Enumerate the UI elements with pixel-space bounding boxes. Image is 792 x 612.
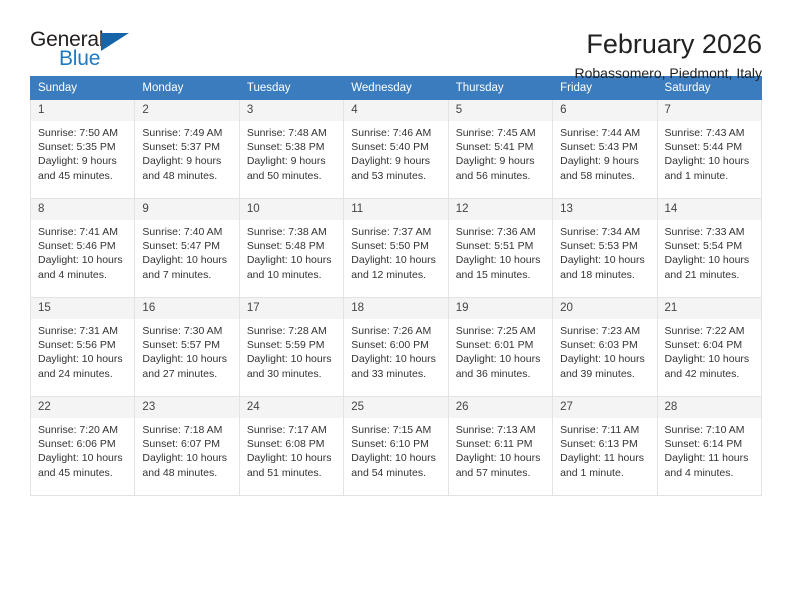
calendar-day-cell[interactable]: 11 Sunrise: 7:37 AM Sunset: 5:50 PM Dayl… [344, 199, 448, 298]
sunrise-text: Sunrise: 7:45 AM [456, 126, 546, 140]
day-number: 9 [135, 199, 238, 220]
day-details: Sunrise: 7:34 AM Sunset: 5:53 PM Dayligh… [553, 220, 656, 282]
daylight-text: Daylight: 9 hours and 58 minutes. [560, 154, 650, 182]
daylight-text: Daylight: 9 hours and 56 minutes. [456, 154, 546, 182]
day-details: Sunrise: 7:38 AM Sunset: 5:48 PM Dayligh… [240, 220, 343, 282]
sunrise-text: Sunrise: 7:31 AM [38, 324, 128, 338]
day-details: Sunrise: 7:10 AM Sunset: 6:14 PM Dayligh… [658, 418, 761, 480]
sunrise-text: Sunrise: 7:25 AM [456, 324, 546, 338]
sunrise-text: Sunrise: 7:44 AM [560, 126, 650, 140]
calendar-week-row: 22 Sunrise: 7:20 AM Sunset: 6:06 PM Dayl… [31, 397, 762, 496]
calendar-day-cell[interactable]: 21 Sunrise: 7:22 AM Sunset: 6:04 PM Dayl… [657, 298, 761, 397]
day-details: Sunrise: 7:15 AM Sunset: 6:10 PM Dayligh… [344, 418, 447, 480]
calendar-day-cell[interactable]: 9 Sunrise: 7:40 AM Sunset: 5:47 PM Dayli… [135, 199, 239, 298]
calendar-week-row: 1 Sunrise: 7:50 AM Sunset: 5:35 PM Dayli… [31, 100, 762, 199]
day-details: Sunrise: 7:45 AM Sunset: 5:41 PM Dayligh… [449, 121, 552, 183]
calendar-body: 1 Sunrise: 7:50 AM Sunset: 5:35 PM Dayli… [31, 100, 762, 496]
daylight-text: Daylight: 10 hours and 1 minute. [665, 154, 755, 182]
sunset-text: Sunset: 5:48 PM [247, 239, 337, 253]
day-number: 23 [135, 397, 238, 418]
day-details: Sunrise: 7:41 AM Sunset: 5:46 PM Dayligh… [31, 220, 134, 282]
daylight-text: Daylight: 10 hours and 27 minutes. [142, 352, 232, 380]
sunrise-text: Sunrise: 7:38 AM [247, 225, 337, 239]
title-block: February 2026 Robassomero, Piedmont, Ita… [574, 28, 762, 83]
day-number: 8 [31, 199, 134, 220]
sunrise-text: Sunrise: 7:46 AM [351, 126, 441, 140]
weekday-header-tuesday: Tuesday [239, 77, 343, 100]
sunset-text: Sunset: 6:06 PM [38, 437, 128, 451]
weekday-header-thursday: Thursday [448, 77, 552, 100]
calendar-day-cell[interactable]: 10 Sunrise: 7:38 AM Sunset: 5:48 PM Dayl… [239, 199, 343, 298]
sunrise-text: Sunrise: 7:48 AM [247, 126, 337, 140]
day-details: Sunrise: 7:37 AM Sunset: 5:50 PM Dayligh… [344, 220, 447, 282]
day-details: Sunrise: 7:13 AM Sunset: 6:11 PM Dayligh… [449, 418, 552, 480]
day-number: 20 [553, 298, 656, 319]
day-number: 22 [31, 397, 134, 418]
day-number: 2 [135, 100, 238, 121]
weekday-header-wednesday: Wednesday [344, 77, 448, 100]
calendar-day-cell[interactable]: 1 Sunrise: 7:50 AM Sunset: 5:35 PM Dayli… [31, 100, 135, 199]
general-blue-logo[interactable]: General Blue [30, 28, 150, 78]
daylight-text: Daylight: 10 hours and 30 minutes. [247, 352, 337, 380]
daylight-text: Daylight: 9 hours and 50 minutes. [247, 154, 337, 182]
sunrise-text: Sunrise: 7:49 AM [142, 126, 232, 140]
day-details: Sunrise: 7:31 AM Sunset: 5:56 PM Dayligh… [31, 319, 134, 381]
daylight-text: Daylight: 10 hours and 21 minutes. [665, 253, 755, 281]
day-number: 3 [240, 100, 343, 121]
daylight-text: Daylight: 10 hours and 10 minutes. [247, 253, 337, 281]
day-details: Sunrise: 7:44 AM Sunset: 5:43 PM Dayligh… [553, 121, 656, 183]
day-number: 28 [658, 397, 761, 418]
sunset-text: Sunset: 6:04 PM [665, 338, 755, 352]
calendar-page: General Blue February 2026 Robassomero, … [0, 0, 792, 612]
sunrise-text: Sunrise: 7:34 AM [560, 225, 650, 239]
day-number: 15 [31, 298, 134, 319]
sunrise-text: Sunrise: 7:11 AM [560, 423, 650, 437]
sunset-text: Sunset: 6:03 PM [560, 338, 650, 352]
calendar-day-cell[interactable]: 16 Sunrise: 7:30 AM Sunset: 5:57 PM Dayl… [135, 298, 239, 397]
sunset-text: Sunset: 5:51 PM [456, 239, 546, 253]
sunset-text: Sunset: 5:46 PM [38, 239, 128, 253]
calendar-day-cell[interactable]: 6 Sunrise: 7:44 AM Sunset: 5:43 PM Dayli… [553, 100, 657, 199]
day-details: Sunrise: 7:33 AM Sunset: 5:54 PM Dayligh… [658, 220, 761, 282]
sunset-text: Sunset: 5:50 PM [351, 239, 441, 253]
daylight-text: Daylight: 9 hours and 45 minutes. [38, 154, 128, 182]
calendar-day-cell[interactable]: 14 Sunrise: 7:33 AM Sunset: 5:54 PM Dayl… [657, 199, 761, 298]
calendar-day-cell[interactable]: 5 Sunrise: 7:45 AM Sunset: 5:41 PM Dayli… [448, 100, 552, 199]
day-number: 4 [344, 100, 447, 121]
daylight-text: Daylight: 10 hours and 36 minutes. [456, 352, 546, 380]
daylight-text: Daylight: 9 hours and 48 minutes. [142, 154, 232, 182]
weekday-header-monday: Monday [135, 77, 239, 100]
sunrise-text: Sunrise: 7:50 AM [38, 126, 128, 140]
calendar-day-cell[interactable]: 2 Sunrise: 7:49 AM Sunset: 5:37 PM Dayli… [135, 100, 239, 199]
sunrise-sunset-calendar: Sunday Monday Tuesday Wednesday Thursday… [30, 76, 762, 496]
logo-text-blue: Blue [59, 47, 100, 70]
daylight-text: Daylight: 11 hours and 4 minutes. [665, 451, 755, 479]
calendar-day-cell[interactable]: 25 Sunrise: 7:15 AM Sunset: 6:10 PM Dayl… [344, 397, 448, 496]
day-number: 14 [658, 199, 761, 220]
page-title: February 2026 [574, 28, 762, 60]
sunrise-text: Sunrise: 7:20 AM [38, 423, 128, 437]
day-details: Sunrise: 7:25 AM Sunset: 6:01 PM Dayligh… [449, 319, 552, 381]
calendar-day-cell[interactable]: 3 Sunrise: 7:48 AM Sunset: 5:38 PM Dayli… [239, 100, 343, 199]
day-details: Sunrise: 7:46 AM Sunset: 5:40 PM Dayligh… [344, 121, 447, 183]
sunset-text: Sunset: 5:38 PM [247, 140, 337, 154]
page-header: General Blue February 2026 Robassomero, … [30, 0, 762, 68]
calendar-day-cell[interactable]: 23 Sunrise: 7:18 AM Sunset: 6:07 PM Dayl… [135, 397, 239, 496]
calendar-day-cell[interactable]: 12 Sunrise: 7:36 AM Sunset: 5:51 PM Dayl… [448, 199, 552, 298]
day-details: Sunrise: 7:30 AM Sunset: 5:57 PM Dayligh… [135, 319, 238, 381]
sunset-text: Sunset: 5:54 PM [665, 239, 755, 253]
sunset-text: Sunset: 5:35 PM [38, 140, 128, 154]
daylight-text: Daylight: 10 hours and 54 minutes. [351, 451, 441, 479]
daylight-text: Daylight: 10 hours and 33 minutes. [351, 352, 441, 380]
calendar-day-cell[interactable]: 4 Sunrise: 7:46 AM Sunset: 5:40 PM Dayli… [344, 100, 448, 199]
sunset-text: Sunset: 5:43 PM [560, 140, 650, 154]
day-details: Sunrise: 7:50 AM Sunset: 5:35 PM Dayligh… [31, 121, 134, 183]
calendar-day-cell[interactable]: 17 Sunrise: 7:28 AM Sunset: 5:59 PM Dayl… [239, 298, 343, 397]
sunset-text: Sunset: 6:13 PM [560, 437, 650, 451]
calendar-day-cell[interactable]: 13 Sunrise: 7:34 AM Sunset: 5:53 PM Dayl… [553, 199, 657, 298]
daylight-text: Daylight: 10 hours and 42 minutes. [665, 352, 755, 380]
calendar-day-cell[interactable]: 15 Sunrise: 7:31 AM Sunset: 5:56 PM Dayl… [31, 298, 135, 397]
sunset-text: Sunset: 6:10 PM [351, 437, 441, 451]
sunset-text: Sunset: 5:53 PM [560, 239, 650, 253]
calendar-day-cell[interactable]: 8 Sunrise: 7:41 AM Sunset: 5:46 PM Dayli… [31, 199, 135, 298]
daylight-text: Daylight: 10 hours and 18 minutes. [560, 253, 650, 281]
sunset-text: Sunset: 6:08 PM [247, 437, 337, 451]
sunrise-text: Sunrise: 7:13 AM [456, 423, 546, 437]
day-details: Sunrise: 7:17 AM Sunset: 6:08 PM Dayligh… [240, 418, 343, 480]
day-details: Sunrise: 7:20 AM Sunset: 6:06 PM Dayligh… [31, 418, 134, 480]
day-details: Sunrise: 7:18 AM Sunset: 6:07 PM Dayligh… [135, 418, 238, 480]
daylight-text: Daylight: 10 hours and 57 minutes. [456, 451, 546, 479]
sunrise-text: Sunrise: 7:28 AM [247, 324, 337, 338]
sunrise-text: Sunrise: 7:17 AM [247, 423, 337, 437]
sunset-text: Sunset: 6:07 PM [142, 437, 232, 451]
sunrise-text: Sunrise: 7:41 AM [38, 225, 128, 239]
sunset-text: Sunset: 5:37 PM [142, 140, 232, 154]
day-number: 12 [449, 199, 552, 220]
daylight-text: Daylight: 10 hours and 7 minutes. [142, 253, 232, 281]
daylight-text: Daylight: 11 hours and 1 minute. [560, 451, 650, 479]
sunrise-text: Sunrise: 7:36 AM [456, 225, 546, 239]
sunrise-text: Sunrise: 7:33 AM [665, 225, 755, 239]
day-number: 19 [449, 298, 552, 319]
day-number: 7 [658, 100, 761, 121]
sunrise-text: Sunrise: 7:40 AM [142, 225, 232, 239]
day-number: 16 [135, 298, 238, 319]
calendar-day-cell[interactable]: 20 Sunrise: 7:23 AM Sunset: 6:03 PM Dayl… [553, 298, 657, 397]
day-details: Sunrise: 7:23 AM Sunset: 6:03 PM Dayligh… [553, 319, 656, 381]
daylight-text: Daylight: 10 hours and 24 minutes. [38, 352, 128, 380]
sunset-text: Sunset: 5:41 PM [456, 140, 546, 154]
sunset-text: Sunset: 6:00 PM [351, 338, 441, 352]
calendar-day-cell[interactable]: 26 Sunrise: 7:13 AM Sunset: 6:11 PM Dayl… [448, 397, 552, 496]
sunset-text: Sunset: 5:57 PM [142, 338, 232, 352]
daylight-text: Daylight: 10 hours and 4 minutes. [38, 253, 128, 281]
day-number: 5 [449, 100, 552, 121]
location-subtitle: Robassomero, Piedmont, Italy [574, 63, 762, 83]
daylight-text: Daylight: 10 hours and 45 minutes. [38, 451, 128, 479]
day-number: 21 [658, 298, 761, 319]
sunset-text: Sunset: 5:44 PM [665, 140, 755, 154]
sunrise-text: Sunrise: 7:22 AM [665, 324, 755, 338]
day-number: 26 [449, 397, 552, 418]
day-number: 18 [344, 298, 447, 319]
sunrise-text: Sunrise: 7:10 AM [665, 423, 755, 437]
sunset-text: Sunset: 6:14 PM [665, 437, 755, 451]
sunrise-text: Sunrise: 7:30 AM [142, 324, 232, 338]
day-number: 13 [553, 199, 656, 220]
sunset-text: Sunset: 5:59 PM [247, 338, 337, 352]
daylight-text: Daylight: 10 hours and 12 minutes. [351, 253, 441, 281]
daylight-text: Daylight: 10 hours and 48 minutes. [142, 451, 232, 479]
day-details: Sunrise: 7:26 AM Sunset: 6:00 PM Dayligh… [344, 319, 447, 381]
calendar-week-row: 15 Sunrise: 7:31 AM Sunset: 5:56 PM Dayl… [31, 298, 762, 397]
day-number: 24 [240, 397, 343, 418]
sunrise-text: Sunrise: 7:26 AM [351, 324, 441, 338]
calendar-week-row: 8 Sunrise: 7:41 AM Sunset: 5:46 PM Dayli… [31, 199, 762, 298]
calendar-day-cell[interactable]: 18 Sunrise: 7:26 AM Sunset: 6:00 PM Dayl… [344, 298, 448, 397]
day-details: Sunrise: 7:36 AM Sunset: 5:51 PM Dayligh… [449, 220, 552, 282]
logo-triangle-icon [101, 33, 129, 51]
day-details: Sunrise: 7:22 AM Sunset: 6:04 PM Dayligh… [658, 319, 761, 381]
day-details: Sunrise: 7:11 AM Sunset: 6:13 PM Dayligh… [553, 418, 656, 480]
day-details: Sunrise: 7:43 AM Sunset: 5:44 PM Dayligh… [658, 121, 761, 183]
calendar-day-cell[interactable]: 7 Sunrise: 7:43 AM Sunset: 5:44 PM Dayli… [657, 100, 761, 199]
day-number: 27 [553, 397, 656, 418]
sunset-text: Sunset: 6:01 PM [456, 338, 546, 352]
daylight-text: Daylight: 9 hours and 53 minutes. [351, 154, 441, 182]
sunrise-text: Sunrise: 7:37 AM [351, 225, 441, 239]
day-number: 25 [344, 397, 447, 418]
day-number: 6 [553, 100, 656, 121]
calendar-day-cell[interactable]: 28 Sunrise: 7:10 AM Sunset: 6:14 PM Dayl… [657, 397, 761, 496]
daylight-text: Daylight: 10 hours and 15 minutes. [456, 253, 546, 281]
calendar-day-cell[interactable]: 22 Sunrise: 7:20 AM Sunset: 6:06 PM Dayl… [31, 397, 135, 496]
day-details: Sunrise: 7:48 AM Sunset: 5:38 PM Dayligh… [240, 121, 343, 183]
weekday-header-sunday: Sunday [31, 77, 135, 100]
calendar-day-cell[interactable]: 27 Sunrise: 7:11 AM Sunset: 6:13 PM Dayl… [553, 397, 657, 496]
sunset-text: Sunset: 5:47 PM [142, 239, 232, 253]
daylight-text: Daylight: 10 hours and 39 minutes. [560, 352, 650, 380]
daylight-text: Daylight: 10 hours and 51 minutes. [247, 451, 337, 479]
day-details: Sunrise: 7:40 AM Sunset: 5:47 PM Dayligh… [135, 220, 238, 282]
day-details: Sunrise: 7:28 AM Sunset: 5:59 PM Dayligh… [240, 319, 343, 381]
sunrise-text: Sunrise: 7:18 AM [142, 423, 232, 437]
sunrise-text: Sunrise: 7:23 AM [560, 324, 650, 338]
sunrise-text: Sunrise: 7:15 AM [351, 423, 441, 437]
sunrise-text: Sunrise: 7:43 AM [665, 126, 755, 140]
sunset-text: Sunset: 6:11 PM [456, 437, 546, 451]
calendar-day-cell[interactable]: 24 Sunrise: 7:17 AM Sunset: 6:08 PM Dayl… [239, 397, 343, 496]
calendar-day-cell[interactable]: 19 Sunrise: 7:25 AM Sunset: 6:01 PM Dayl… [448, 298, 552, 397]
day-details: Sunrise: 7:49 AM Sunset: 5:37 PM Dayligh… [135, 121, 238, 183]
day-number: 17 [240, 298, 343, 319]
day-number: 1 [31, 100, 134, 121]
day-number: 11 [344, 199, 447, 220]
sunset-text: Sunset: 5:56 PM [38, 338, 128, 352]
sunset-text: Sunset: 5:40 PM [351, 140, 441, 154]
day-number: 10 [240, 199, 343, 220]
